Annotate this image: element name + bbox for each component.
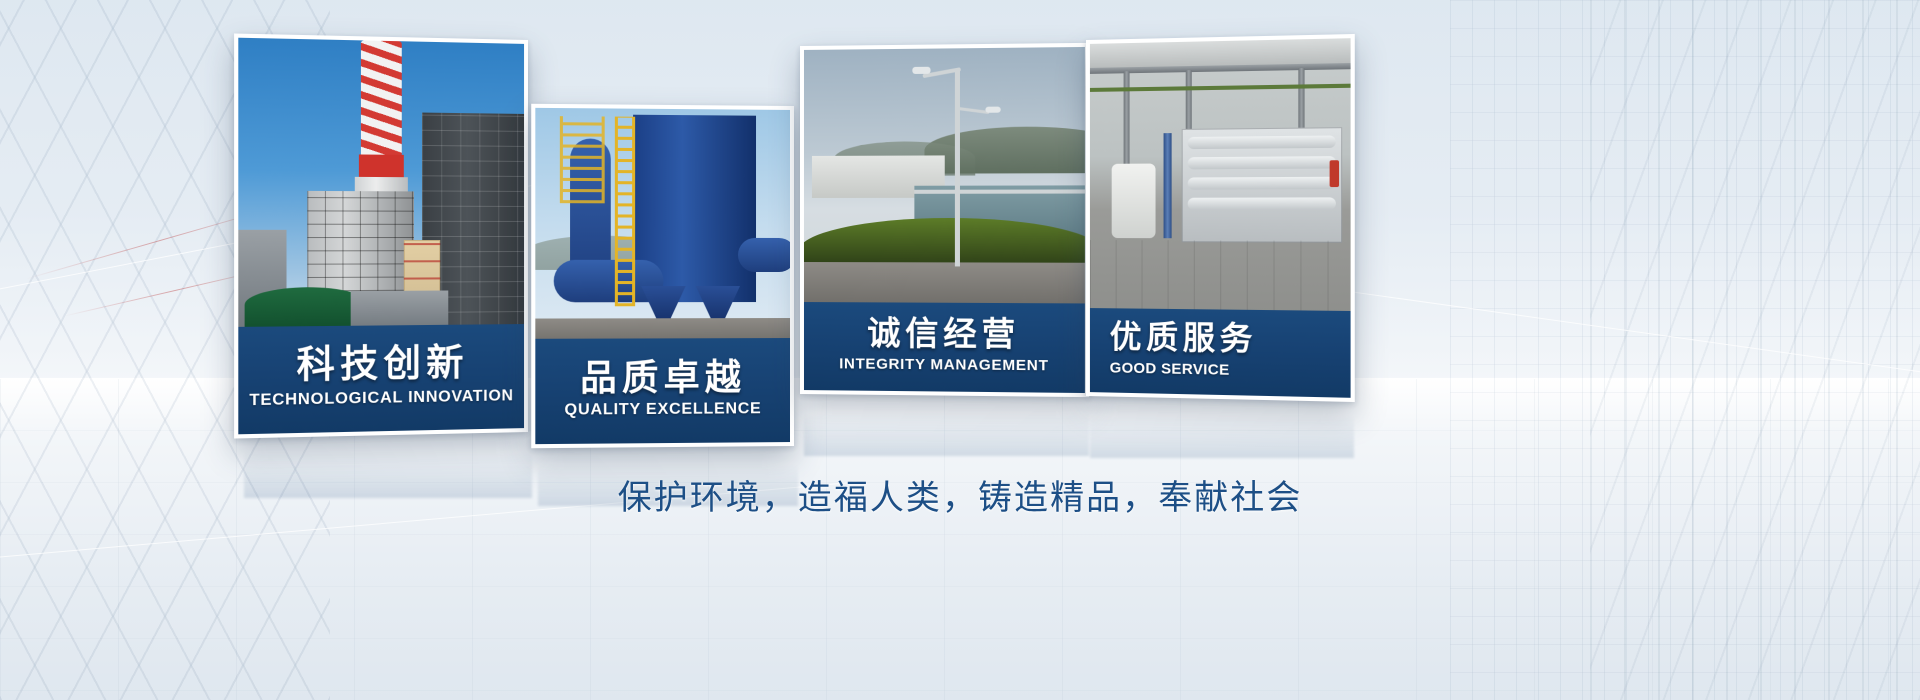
feature-panel-quality-excellence[interactable]: 品质卓越 QUALITY EXCELLENCE [531, 104, 794, 448]
panel-title-cn-1: 科技创新 [297, 344, 469, 386]
photo-chimney-striped [361, 40, 402, 163]
panel-title-en-1: TECHNOLOGICAL INNOVATION [249, 387, 513, 410]
panel-title-cn-4: 优质服务 [1110, 321, 1257, 357]
feature-panel-technological-innovation[interactable]: 科技创新 TECHNOLOGICAL INNOVATION [234, 33, 528, 438]
photo-street-lamp-head [912, 67, 930, 74]
photo-street-lamp-pole [955, 69, 960, 267]
feature-panel-good-service[interactable]: 优质服务 GOOD SERVICE [1086, 34, 1355, 402]
panel-caption-band-3: 诚信经营 INTEGRITY MANAGEMENT [804, 302, 1085, 393]
panel-title-en-2: QUALITY EXCELLENCE [565, 401, 762, 420]
panel-reflection-3 [804, 396, 1089, 456]
photo-yellow-ladder [615, 117, 635, 307]
panel-caption-band-1: 科技创新 TECHNOLOGICAL INNOVATION [238, 324, 524, 434]
panel-photo-industrial-chimney-plant [238, 38, 524, 331]
photo-lamp-head-2 [985, 107, 1000, 113]
panel-photo-reverse-osmosis-room [1090, 38, 1351, 315]
photo-yellow-handrail [560, 116, 605, 203]
panel-title-cn-3: 诚信经营 [867, 316, 1020, 352]
panel-title-en-3: INTEGRITY MANAGEMENT [839, 356, 1048, 375]
photo-membrane-tube-1 [1188, 135, 1336, 149]
photo-red-valve [1330, 160, 1339, 187]
feature-panel-integrity-management[interactable]: 诚信经营 INTEGRITY MANAGEMENT [800, 43, 1089, 397]
photo-chemical-tank [1112, 164, 1156, 239]
panel-caption-band-4: 优质服务 GOOD SERVICE [1090, 308, 1351, 398]
banner-stage: 科技创新 TECHNOLOGICAL INNOVATION 品质卓越 [0, 0, 1920, 700]
photo-chimney-red-ring [359, 154, 404, 177]
photo-paved-road [804, 262, 1085, 308]
banner-tagline: 保护环境，造福人类，铸造精品，奉献社会 [0, 470, 1920, 519]
photo-floor [1090, 240, 1351, 315]
photo-outlet-pipe [738, 238, 790, 272]
panel-title-en-4: GOOD SERVICE [1110, 359, 1230, 378]
photo-membrane-tube-3 [1188, 177, 1336, 190]
panel-photo-wastewater-treatment-plant [804, 47, 1085, 308]
photo-basin-rail [914, 189, 1085, 193]
panel-caption-band-2: 品质卓越 QUALITY EXCELLENCE [535, 338, 790, 444]
photo-membrane-tube-2 [1188, 156, 1336, 169]
panel-title-cn-2: 品质卓越 [580, 358, 746, 397]
panel-reflection-4 [1090, 398, 1354, 458]
feature-panel-group: 科技创新 TECHNOLOGICAL INNOVATION 品质卓越 [0, 0, 1920, 700]
photo-blue-pipe [1164, 133, 1172, 238]
photo-membrane-tube-4 [1188, 197, 1336, 210]
panel-photo-blue-dust-collector [535, 108, 790, 343]
